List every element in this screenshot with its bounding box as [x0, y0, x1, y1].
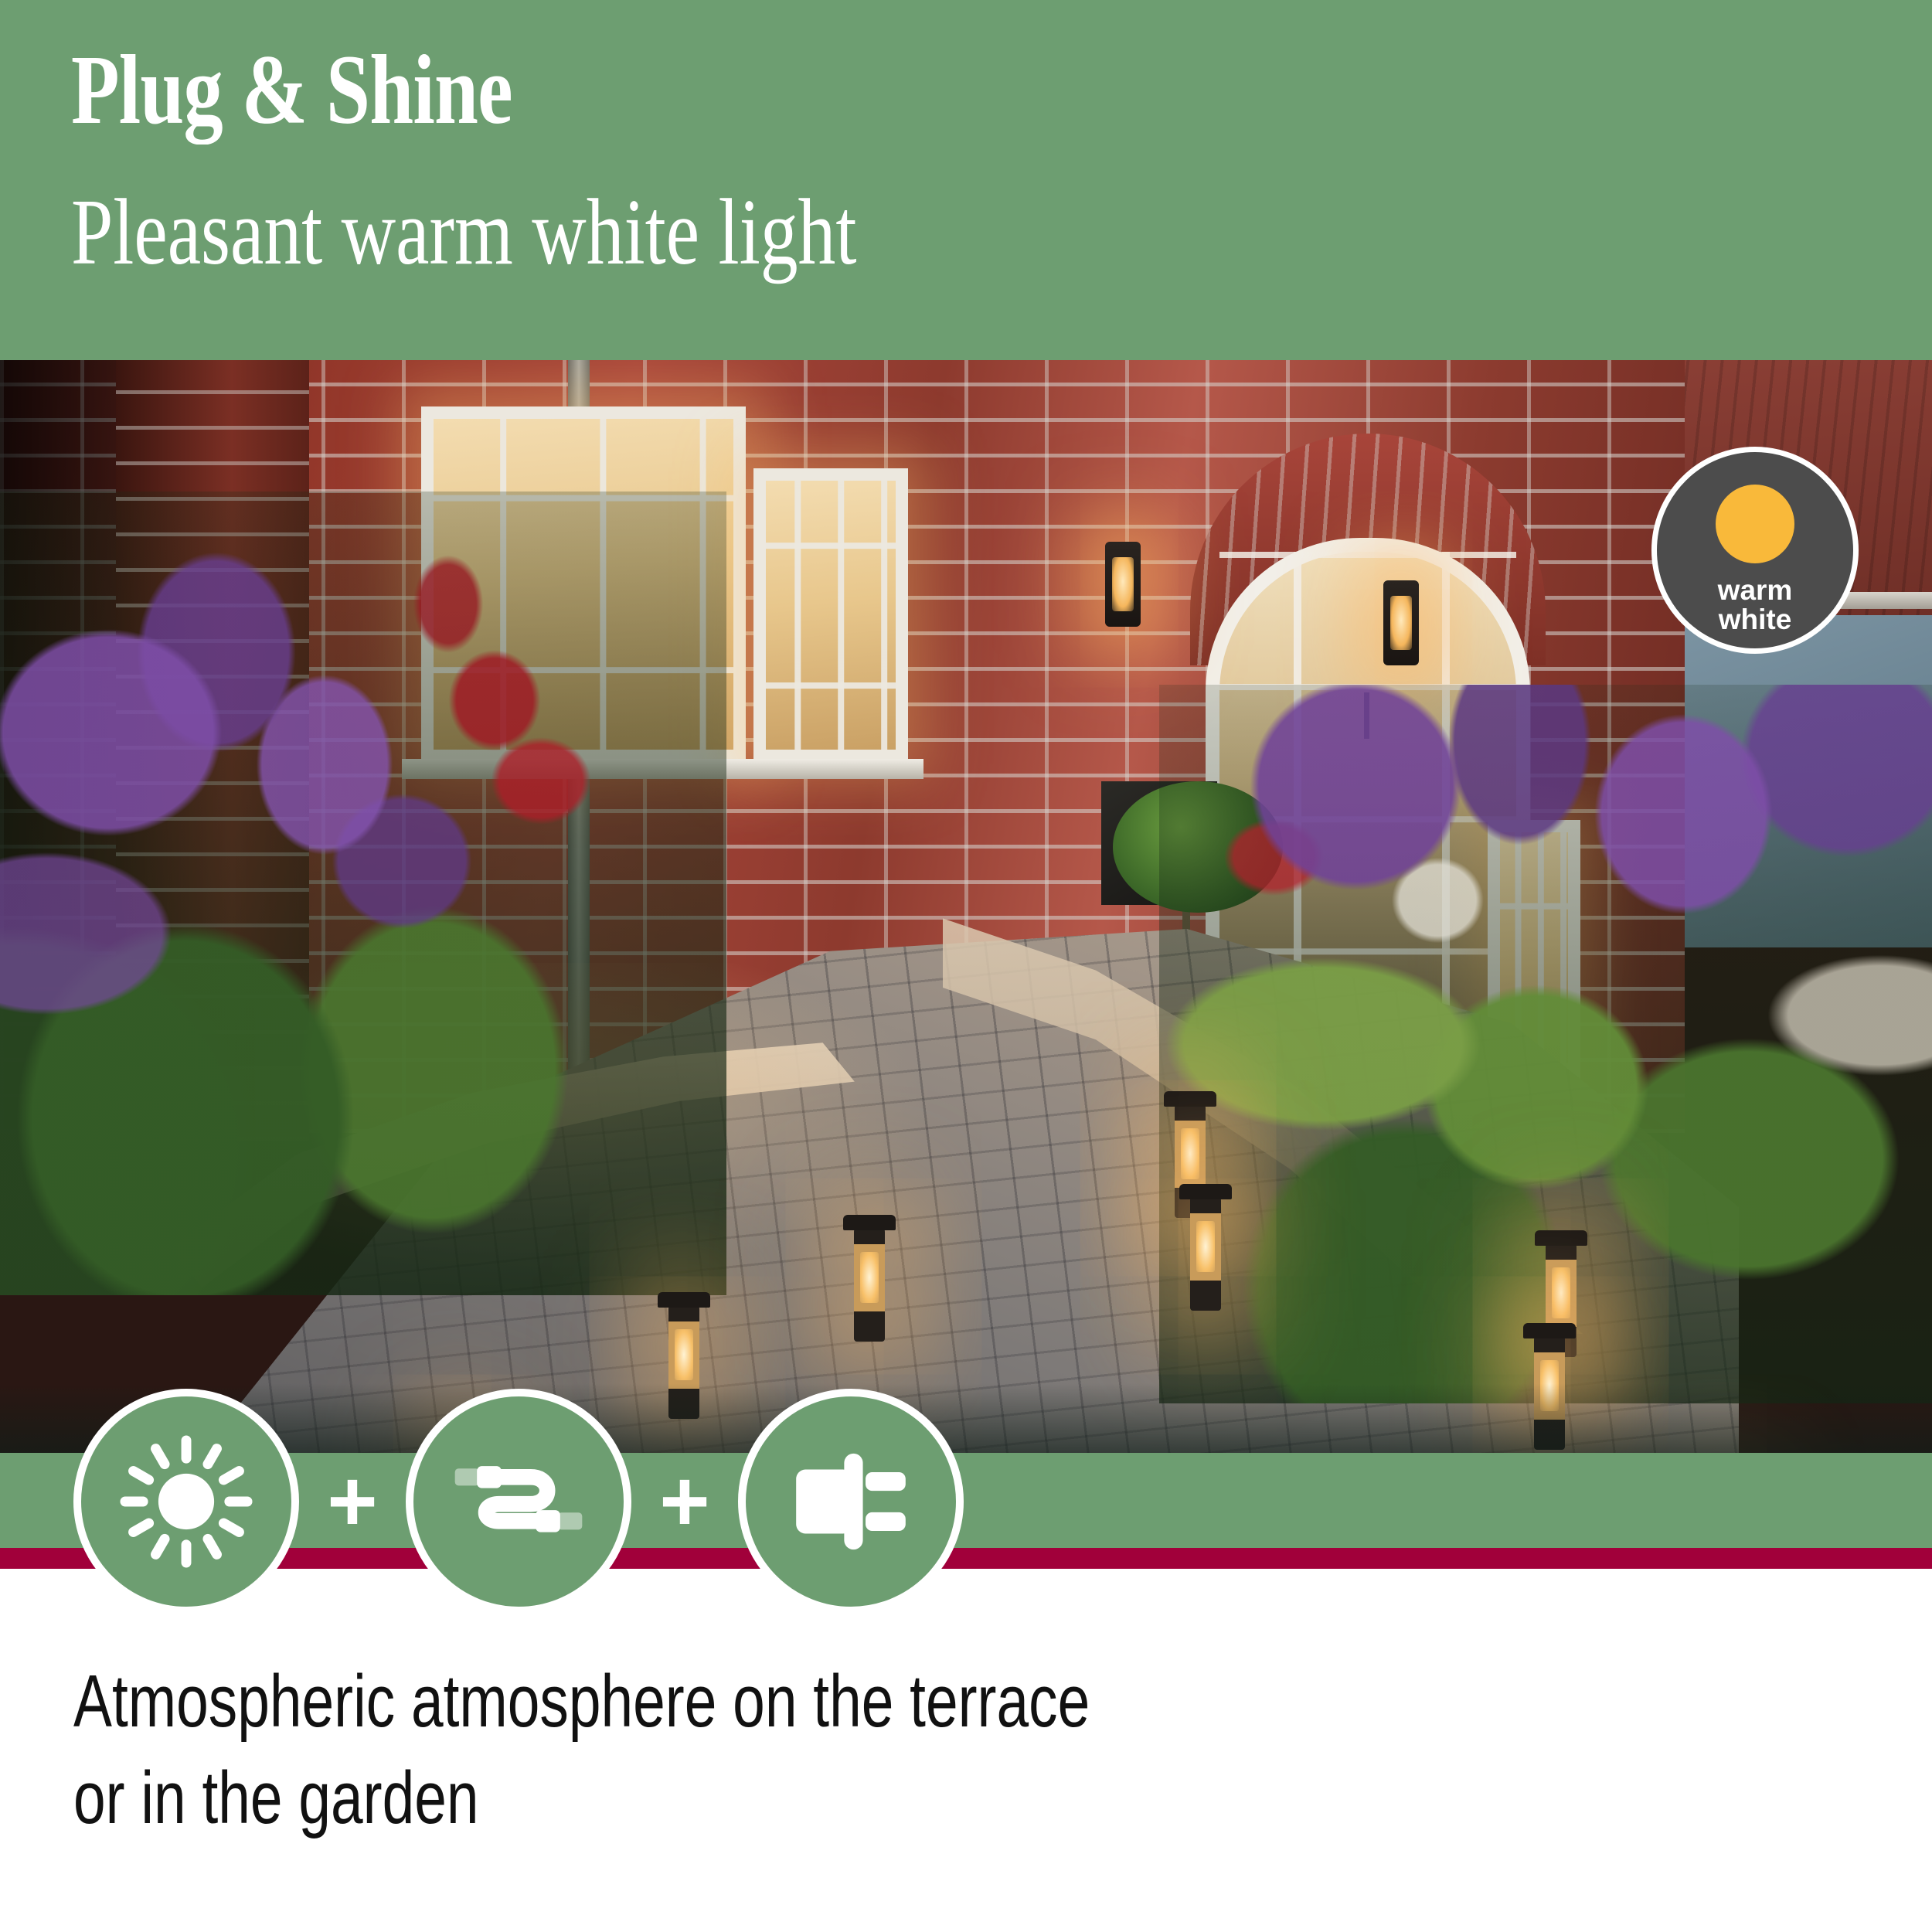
sun-icon	[113, 1428, 260, 1575]
hero-photo	[0, 360, 1932, 1453]
cable-icon	[445, 1428, 592, 1575]
warm-white-badge: warm white	[1651, 447, 1859, 654]
warm-white-color-dot	[1716, 485, 1794, 563]
plug-icon	[777, 1428, 924, 1575]
brand-title: Plug & Shine	[71, 40, 512, 139]
plus-separator-2: +	[631, 1471, 738, 1532]
caption-text: Atmospheric atmosphere on the terrace or…	[73, 1654, 1339, 1847]
wall-lantern-right	[1383, 580, 1419, 665]
plus-separator-1: +	[299, 1471, 406, 1532]
warm-white-label: warm white	[1718, 576, 1793, 634]
warm-white-label-line1: warm	[1718, 576, 1793, 605]
feature-circle-light	[73, 1389, 299, 1614]
warm-white-label-line2: white	[1718, 605, 1793, 634]
bollard-light	[1190, 1195, 1221, 1311]
header-band: Plug & Shine Pleasant warm white light	[0, 0, 1932, 360]
feature-circle-cable	[406, 1389, 631, 1614]
header-subtitle: Pleasant warm white light	[71, 185, 856, 280]
window-center	[753, 468, 908, 762]
wall-lantern-left	[1105, 542, 1141, 627]
feature-circle-plug	[738, 1389, 964, 1614]
product-marketing-card: Plug & Shine Pleasant warm white light	[0, 0, 1932, 1932]
bollard-light	[854, 1226, 885, 1342]
window-sill-center	[738, 759, 923, 779]
feature-icon-row: + +	[73, 1386, 1001, 1617]
flower-bed-left	[0, 492, 726, 1295]
